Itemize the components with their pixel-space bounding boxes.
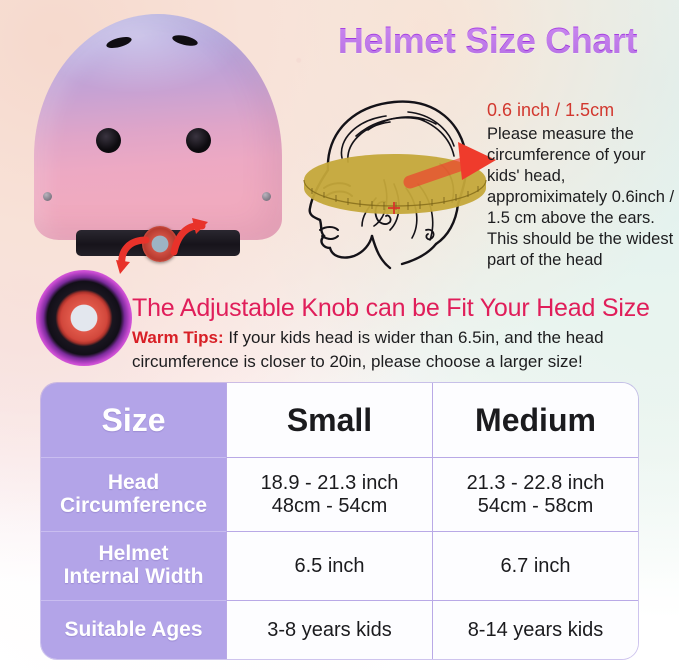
row-label-head-circumference: Head Circumference	[41, 458, 226, 532]
helmet-shell	[34, 14, 282, 240]
table-header-small: Small	[226, 383, 432, 458]
measurement-instructions-block: 0.6 inch / 1.5cm Please measure the circ…	[487, 100, 677, 271]
rotate-right-arrow-icon	[170, 214, 210, 256]
warm-tips-block: Warm Tips: If your kids head is wider th…	[132, 326, 660, 374]
table-header-medium: Medium	[432, 383, 638, 458]
cell-small-head-circumference: 18.9 - 21.3 inch 48cm - 54cm	[226, 458, 432, 532]
cell-medium-helmet-internal-width: 6.7 inch	[432, 532, 638, 601]
rotate-left-arrow-icon	[116, 236, 152, 276]
row-label-suitable-ages: Suitable Ages	[41, 601, 226, 659]
helmet-hole-icon	[96, 128, 121, 153]
cell-medium-suitable-ages: 8-14 years kids	[432, 601, 638, 659]
helmet-rivet-icon	[262, 192, 271, 201]
warm-tips-label: Warm Tips:	[132, 328, 224, 347]
adjustable-knob-icon	[36, 270, 132, 366]
value-line-1: 21.3 - 22.8 inch	[433, 472, 638, 495]
helmet-vent-icon	[105, 35, 132, 50]
label-line-2: Circumference	[41, 495, 226, 518]
row-label-helmet-internal-width: Helmet Internal Width	[41, 532, 226, 601]
value-line-2: 48cm - 54cm	[227, 495, 432, 518]
helmet-rivet-icon	[43, 192, 52, 201]
head-measurement-diagram	[290, 84, 500, 282]
table-row: Helmet Internal Width 6.5 inch 6.7 inch	[41, 532, 638, 601]
value-line-1: 18.9 - 21.3 inch	[227, 472, 432, 495]
cell-small-helmet-internal-width: 6.5 inch	[226, 532, 432, 601]
page-title: Helmet Size Chart	[300, 20, 675, 62]
label-line-1: Head	[41, 472, 226, 495]
measurement-callout: 0.6 inch / 1.5cm	[487, 100, 677, 121]
table-row: Head Circumference 18.9 - 21.3 inch 48cm…	[41, 458, 638, 532]
helmet-hole-icon	[186, 128, 211, 153]
table-row: Suitable Ages 3-8 years kids 8-14 years …	[41, 601, 638, 659]
label-line-2: Internal Width	[41, 566, 226, 589]
measurement-instructions-text: Please measure the circumference of your…	[487, 124, 677, 272]
helmet-product-image	[20, 8, 296, 276]
table-header-size: Size	[41, 383, 226, 458]
label-line-1: Helmet	[41, 543, 226, 566]
table-header-row: Size Small Medium	[41, 383, 638, 458]
knob-headline: The Adjustable Knob can be Fit Your Head…	[132, 294, 650, 323]
size-chart-table: Size Small Medium Head Circumference 18.…	[41, 383, 638, 659]
helmet-size-chart-infographic: Helmet Size Chart	[0, 0, 679, 670]
value-line-2: 54cm - 58cm	[433, 495, 638, 518]
cell-medium-head-circumference: 21.3 - 22.8 inch 54cm - 58cm	[432, 458, 638, 532]
cell-small-suitable-ages: 3-8 years kids	[226, 601, 432, 659]
helmet-vent-icon	[171, 33, 198, 48]
